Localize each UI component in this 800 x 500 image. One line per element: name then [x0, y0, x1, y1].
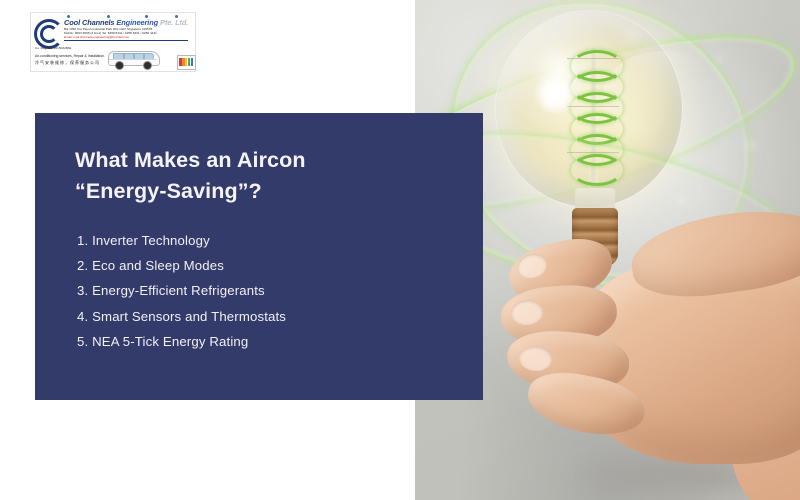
company-registration: Co. Reg. No. 201502288E [35, 46, 71, 50]
company-name-main: Cool Channels [64, 18, 114, 27]
company-name-mid: Engineering [116, 18, 158, 27]
title-line-1: What Makes an Aircon [75, 145, 445, 176]
company-services-chinese: 冷气安装维修，保养服务公司 [35, 60, 100, 66]
letterhead-divider [64, 40, 188, 41]
service-van-illustration [105, 49, 161, 71]
color-bars-badge [177, 55, 196, 70]
list-item: 3. Energy-Efficient Refrigerants [77, 278, 467, 303]
address-line-3: Email: cool.channels.engineering@hotmail… [64, 35, 189, 39]
list-item: 1. Inverter Technology [77, 228, 467, 253]
company-letterhead: Cool Channels Engineering Pte. Ltd. Blk … [30, 12, 196, 72]
content-panel: What Makes an Aircon “Energy-Saving”? 1.… [35, 113, 483, 400]
list-item: 5. NEA 5-Tick Energy Rating [77, 329, 467, 354]
title-line-2: “Energy-Saving”? [75, 176, 445, 207]
company-address: Blk 1050 Toa Payoh Industrial Park #01-1… [64, 27, 189, 39]
company-name-suffix: Pte. Ltd. [160, 18, 188, 27]
feature-list: 1. Inverter Technology 2. Eco and Sleep … [77, 228, 467, 354]
list-item: 2. Eco and Sleep Modes [77, 253, 467, 278]
list-item: 4. Smart Sensors and Thermostats [77, 304, 467, 329]
company-logo-icon [34, 19, 60, 45]
company-services: Air-conditioning services, Repair & Inst… [35, 54, 105, 58]
company-name: Cool Channels Engineering Pte. Ltd. [64, 18, 188, 27]
hand [501, 214, 800, 500]
page-title: What Makes an Aircon “Energy-Saving”? [75, 145, 445, 207]
slide-canvas: What Makes an Aircon “Energy-Saving”? 1.… [0, 0, 800, 500]
filament-glow [533, 74, 577, 114]
